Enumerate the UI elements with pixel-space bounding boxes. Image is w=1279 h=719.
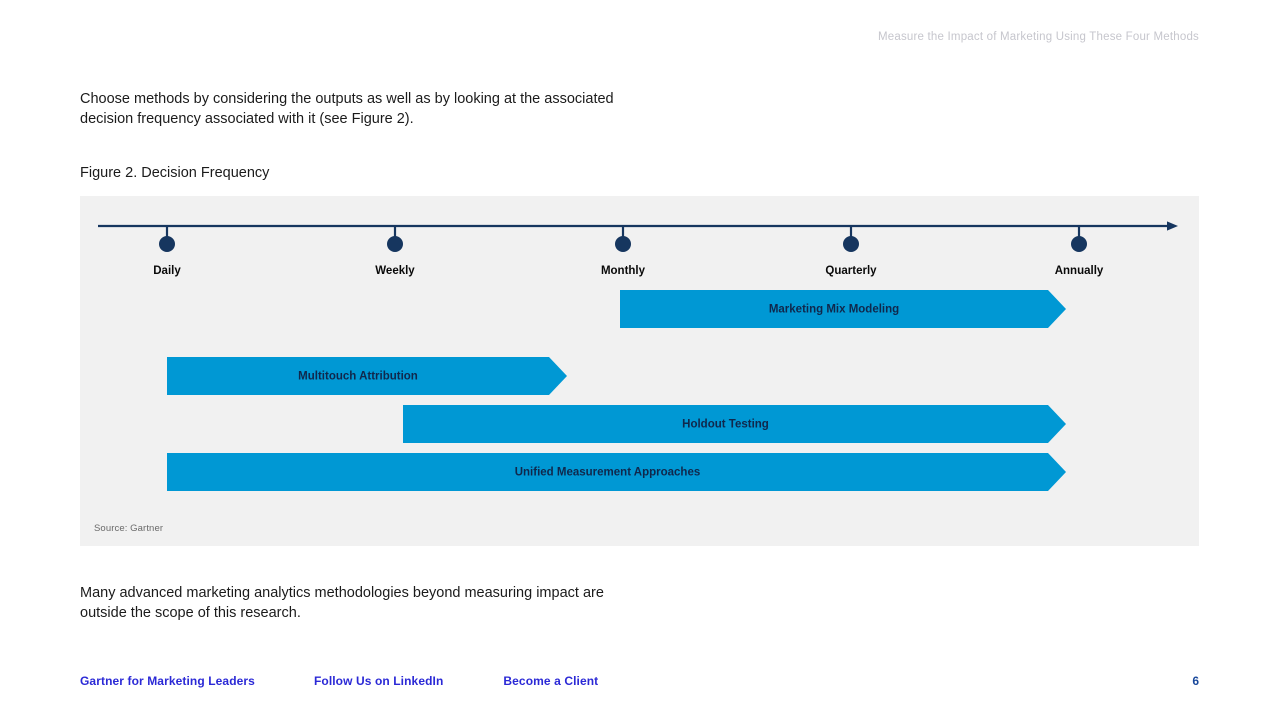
footer-link-gartner-for-marketing-leaders[interactable]: Gartner for Marketing Leaders (80, 674, 255, 688)
running-header-title: Measure the Impact of Marketing Using Th… (878, 31, 1199, 43)
timeline-marker-group: DailyWeeklyMonthlyQuarterlyAnnually (153, 226, 1104, 277)
timeline-marker-label: Monthly (601, 265, 646, 277)
marker-dot-icon (615, 236, 631, 252)
method-bar-label: Unified Measurement Approaches (515, 467, 701, 479)
timeline-marker-label: Annually (1055, 265, 1104, 277)
timeline-marker-label: Quarterly (825, 265, 877, 277)
figure-decision-frequency: DailyWeeklyMonthlyQuarterlyAnnually Mark… (80, 196, 1199, 546)
figure-caption: Figure 2. Decision Frequency (80, 163, 269, 183)
marker-dot-icon (159, 236, 175, 252)
footer-link-follow-us-on-linkedin[interactable]: Follow Us on LinkedIn (314, 674, 443, 688)
marker-dot-icon (387, 236, 403, 252)
method-bar-group: Marketing Mix ModelingMultitouch Attribu… (167, 290, 1066, 491)
method-bar-label: Marketing Mix Modeling (769, 304, 899, 316)
timeline-marker-monthly: Monthly (601, 226, 646, 277)
outro-paragraph: Many advanced marketing analytics method… (80, 583, 640, 623)
method-bar-marketing-mix-modeling: Marketing Mix Modeling (620, 290, 1066, 328)
method-bar-multitouch-attribution: Multitouch Attribution (167, 357, 567, 395)
marker-dot-icon (1071, 236, 1087, 252)
method-bar-label: Multitouch Attribution (298, 371, 418, 383)
timeline-axis (98, 221, 1178, 230)
method-bar-unified-measurement-approaches: Unified Measurement Approaches (167, 453, 1066, 491)
marker-dot-icon (843, 236, 859, 252)
method-bar-label: Holdout Testing (682, 419, 769, 431)
timeline-marker-label: Weekly (375, 265, 415, 277)
timeline-marker-quarterly: Quarterly (825, 226, 877, 277)
timeline-marker-weekly: Weekly (375, 226, 415, 277)
decision-frequency-diagram: DailyWeeklyMonthlyQuarterlyAnnually Mark… (80, 196, 1199, 546)
timeline-marker-annually: Annually (1055, 226, 1104, 277)
footer-link-become-a-client[interactable]: Become a Client (503, 674, 598, 688)
timeline-marker-daily: Daily (153, 226, 181, 277)
timeline-marker-label: Daily (153, 265, 181, 277)
footer-links: Gartner for Marketing Leaders Follow Us … (80, 674, 598, 688)
page-number: 6 (1192, 674, 1199, 688)
timeline-axis-arrow-icon (1167, 221, 1178, 230)
method-bar-holdout-testing: Holdout Testing (403, 405, 1066, 443)
source-note: Source: Gartner (94, 523, 163, 534)
intro-paragraph: Choose methods by considering the output… (80, 89, 640, 129)
